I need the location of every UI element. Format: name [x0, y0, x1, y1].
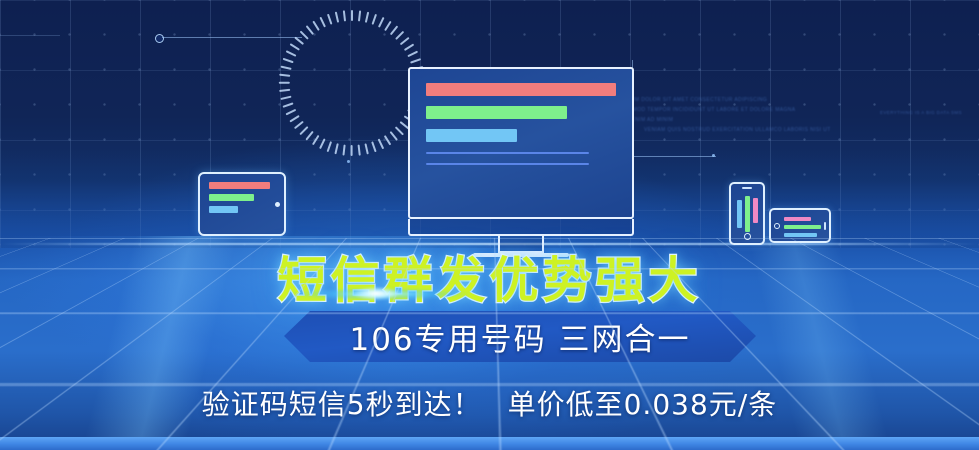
circuit-dot — [347, 160, 350, 163]
phone-speaker-icon — [742, 187, 752, 189]
ribbon-label: 106专用号码 三网合一 — [284, 311, 756, 362]
subtitle-left: 验证码短信5秒到达！ — [202, 388, 482, 421]
tablet-illustration — [198, 172, 286, 236]
monitor-bar — [426, 129, 517, 142]
phone-horizontal-illustration — [769, 208, 831, 243]
tablet-bar — [209, 206, 238, 213]
tablet-home-button-icon — [275, 202, 280, 207]
subtitle-row: 验证码短信5秒到达！单价低至0.038元/条 — [0, 383, 979, 423]
circuit-line-3 — [0, 35, 60, 36]
phone-vertical-illustration — [729, 182, 765, 245]
monitor-line — [426, 152, 589, 154]
lens-flare-core — [352, 286, 400, 301]
monitor-chin — [408, 219, 634, 236]
desktop-monitor-illustration — [408, 67, 634, 257]
decor-far-right-text: EVERYTHING IS A BIG DATA SMS — [880, 108, 962, 117]
phone-bar — [784, 225, 821, 229]
phone-home-button-icon — [774, 223, 780, 229]
sms-promo-banner: LOREM IPSUM DOLOR SIT AMET CONSECTETUR A… — [0, 0, 979, 450]
phone-home-button-icon — [744, 233, 751, 240]
phone-speaker-icon — [824, 222, 826, 230]
decor-code-line: VENIAM QUIS NOSTRUD EXERCITATION ULLAMCO… — [644, 126, 831, 135]
phone-bar — [737, 200, 742, 228]
bottom-highlight-strip — [0, 437, 979, 450]
circuit-node-icon — [155, 34, 164, 43]
phone-horizontal-bars — [784, 217, 821, 241]
monitor-bar — [426, 106, 567, 119]
phone-bar — [745, 196, 750, 232]
tablet-bar — [209, 194, 254, 201]
circuit-dot — [712, 154, 715, 157]
tablet-bar — [209, 182, 270, 189]
subtitle-right: 单价低至0.038元/条 — [508, 388, 778, 421]
phone-bar — [784, 217, 811, 221]
monitor-bar — [426, 83, 616, 96]
radial-tick-ring-icon — [278, 10, 424, 156]
phone-bar — [753, 198, 758, 223]
phone-vertical-bars — [737, 196, 758, 232]
monitor-screen — [408, 67, 634, 219]
monitor-line — [426, 163, 589, 165]
phone-bar — [784, 233, 817, 237]
